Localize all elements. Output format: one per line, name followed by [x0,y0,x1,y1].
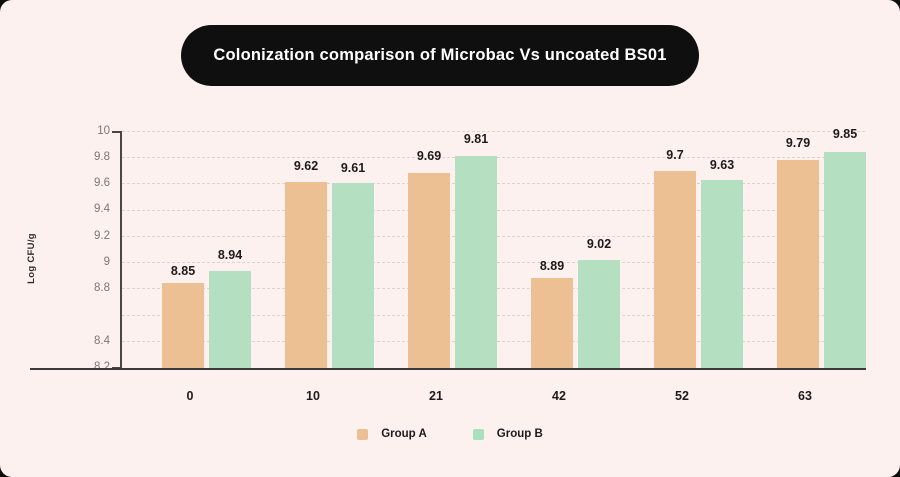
bar-value-label: 9.69 [417,149,441,163]
y-tick-label [86,307,104,320]
x-tick-label: 0 [145,389,235,403]
bar-rect[interactable] [531,278,573,368]
bar-value-label: 9.62 [294,159,318,173]
legend-swatch-icon [473,429,484,440]
bar-rect[interactable] [209,271,251,368]
y-tick-label: 8.2 [64,361,110,373]
page-title: Colonization comparison of Microbac Vs u… [213,46,666,65]
bar-rect[interactable] [701,180,743,368]
bar-value-label: 9.7 [666,148,683,162]
x-tick-label: 10 [268,389,358,403]
bar-value-label: 9.61 [341,161,365,175]
chart-title-pill: Colonization comparison of Microbac Vs u… [181,25,699,86]
bar-rect[interactable] [578,260,620,368]
y-tick-label: 8.4 [64,335,110,347]
chart-legend: Group A Group B [0,428,900,440]
bar-value-label: 8.85 [171,264,195,278]
bar-value-label: 8.94 [218,248,242,262]
chart-card: Colonization comparison of Microbac Vs u… [0,0,900,477]
bar-value-label: 9.63 [710,158,734,172]
y-axis-title: Log CFU/g [24,223,38,293]
bar-value-label: 9.81 [464,132,488,146]
y-tick-label: 9.8 [64,151,110,163]
bar-value-label: 9.79 [786,136,810,150]
x-tick-label: 63 [760,389,850,403]
bar-value-label: 8.89 [540,259,564,273]
legend-item-group-a[interactable]: Group A [357,428,427,440]
y-axis-title-label: Log CFU/g [26,233,37,284]
y-tick-label: 9 [64,256,110,268]
y-tick-label: 8.8 [64,282,110,294]
legend-item-group-b[interactable]: Group B [473,428,543,440]
y-axis-ticks: 10 9.8 9.6 9.4 9.2 9 8.8 8.4 8.2 [58,131,110,369]
bar-rect[interactable] [824,152,866,368]
bar-rect[interactable] [408,173,450,368]
x-axis-line [30,368,866,370]
legend-label: Group B [497,428,543,440]
bar-rect[interactable] [654,171,696,368]
gridline [122,131,865,132]
bar-value-label: 9.02 [587,237,611,251]
legend-label: Group A [381,428,427,440]
y-tick-label: 9.4 [64,203,110,215]
y-tick-label: 10 [64,125,110,137]
y-tick-label: 9.6 [64,177,110,189]
plot-area: 8.85 8.94 9.62 9.61 9.69 [122,131,865,368]
x-tick-label: 52 [637,389,727,403]
x-tick-label: 42 [514,389,604,403]
bar-rect[interactable] [285,182,327,368]
bar-rect[interactable] [332,183,374,368]
x-axis-ticks: 0 10 21 42 52 63 [122,389,865,409]
bar-rect[interactable] [162,283,204,368]
x-tick-label: 21 [391,389,481,403]
bar-rect[interactable] [455,156,497,368]
bar-rect[interactable] [777,160,819,368]
bar-value-label: 9.85 [833,127,857,141]
legend-swatch-icon [357,429,368,440]
y-tick-label: 9.2 [64,230,110,242]
